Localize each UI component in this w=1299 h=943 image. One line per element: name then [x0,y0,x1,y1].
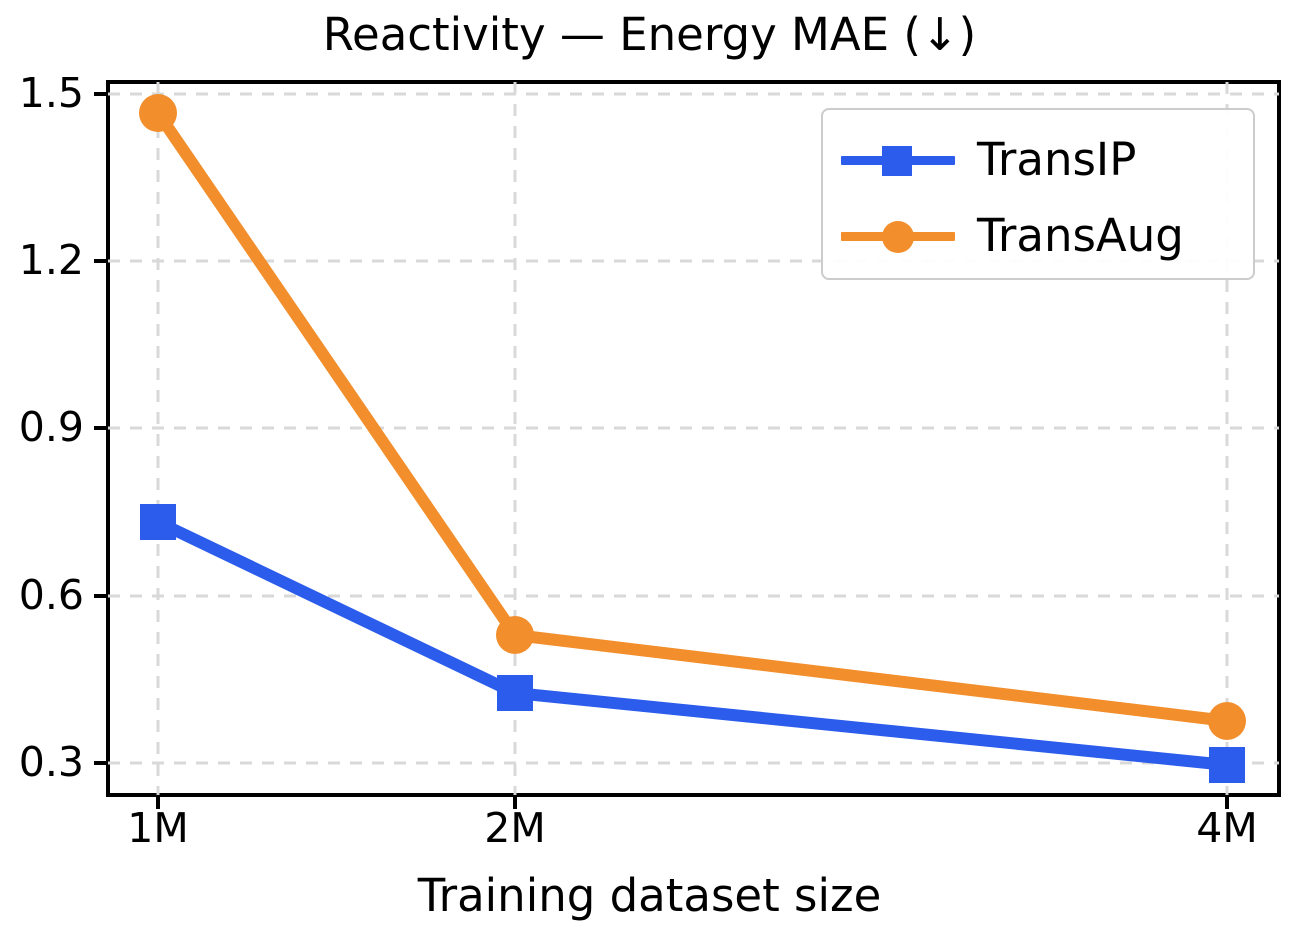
legend-label-transaug: TransAug [977,211,1184,261]
legend-item-transaug[interactable]: TransAug [841,206,1184,266]
x-tick-label-1m: 1M [127,808,188,849]
legend-label-transip: TransIP [977,135,1136,185]
chart-figure: Reactivity — Energy MAE (↓) [0,0,1299,943]
x-tick-marks [158,797,1227,809]
legend-item-transip[interactable]: TransIP [841,130,1136,190]
square-marker-icon [882,146,912,176]
y-tick-label-5: 0.3 [19,742,84,783]
chart-legend: TransIP TransAug [821,108,1255,280]
x-tick-label-2m: 2M [484,808,545,849]
y-tick-label-1: 1.5 [19,73,84,114]
chart-title: Reactivity — Energy MAE (↓) [0,6,1299,64]
legend-swatch-transaug [841,216,955,256]
y-tick-marks [94,94,106,763]
y-tick-label-4: 0.6 [19,575,84,616]
legend-swatch-transip [841,140,955,180]
circle-marker-icon [882,221,914,253]
y-tick-label-2: 1.2 [19,240,84,281]
y-tick-label-3: 0.9 [19,407,84,448]
x-axis-label: Training dataset size [0,869,1299,923]
x-tick-label-4m: 4M [1196,808,1257,849]
